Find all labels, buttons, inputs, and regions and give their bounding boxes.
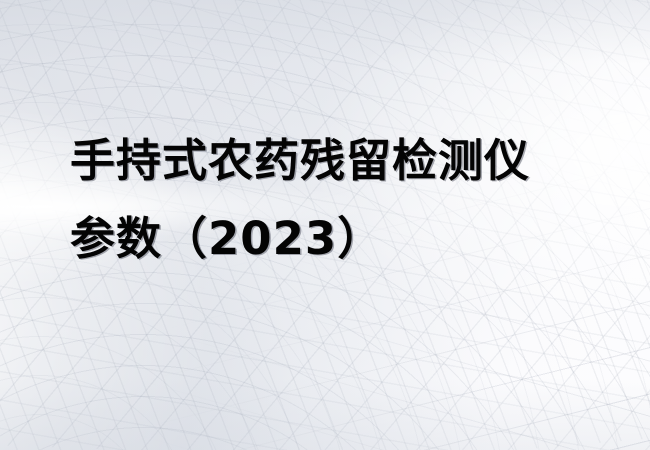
title-line-2: 参数（2023） <box>70 200 630 278</box>
title-line-1: 手持式农药残留检测仪 <box>70 122 630 200</box>
page-title: 手持式农药残留检测仪 参数（2023） <box>70 122 630 278</box>
title-card: 手持式农药残留检测仪 参数（2023） <box>0 0 650 450</box>
